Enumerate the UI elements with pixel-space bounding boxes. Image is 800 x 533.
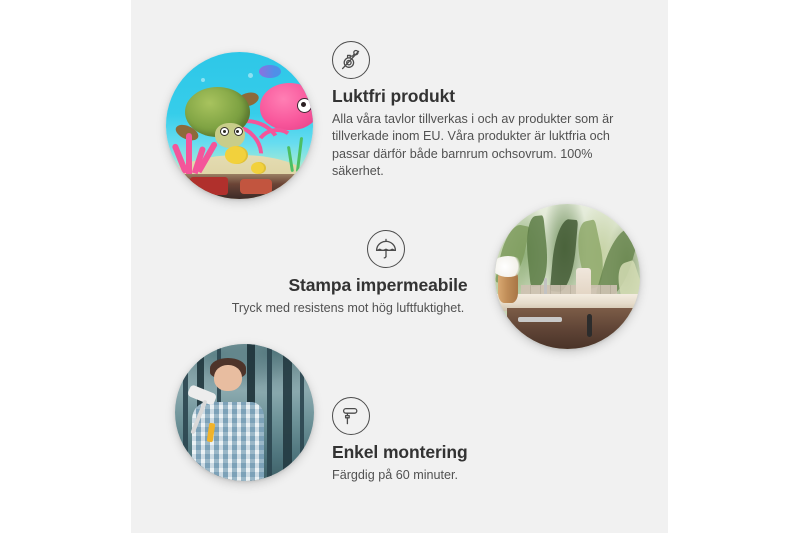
octopus-head — [260, 83, 313, 130]
feature-body: Alla våra tavlor tillverkas i och av pro… — [332, 111, 622, 181]
flowers — [495, 256, 524, 276]
infographic-page: Luktfri produkt Alla våra tavlor tillver… — [0, 0, 800, 533]
feature-title: Luktfri produkt — [332, 86, 622, 107]
no-odour-spray-bottle-icon — [332, 41, 370, 79]
underwater-artwork — [166, 52, 313, 199]
tree-trunk — [283, 344, 292, 481]
feature-body: Färgdig på 60 minuter. — [332, 467, 592, 484]
pink-coral — [175, 130, 219, 174]
feature-title: Stampa impermeabile — [213, 275, 483, 296]
octopus-eye — [297, 98, 312, 113]
tree-trunk — [183, 344, 188, 481]
feature-title: Enkel montering — [332, 442, 592, 463]
photo-underwater-scene — [166, 52, 313, 199]
painter-artwork — [175, 344, 314, 481]
wood-vanity — [507, 308, 640, 349]
tree-trunk — [267, 344, 272, 481]
tree-trunk — [300, 344, 304, 481]
yellow-fish-icon — [251, 162, 266, 174]
turtle-eye — [234, 127, 243, 136]
feature-easy-mount: Enkel montering Färgdig på 60 minuter. — [332, 397, 592, 484]
bubble-icon — [248, 73, 253, 78]
feature-body: Tryck med resistens mot hög luftfuktighe… — [213, 300, 483, 317]
photo-bathroom-scene — [495, 204, 640, 349]
content-panel: Luktfri produkt Alla våra tavlor tillver… — [131, 0, 668, 533]
bathroom-artwork — [495, 204, 640, 349]
yellow-fish-icon — [225, 146, 249, 164]
feature-odourless: Luktfri produkt Alla våra tavlor tillver… — [332, 41, 622, 181]
paint-roller-icon — [332, 397, 370, 435]
foreground-strip — [166, 174, 313, 199]
feature-waterproof: Stampa impermeabile Tryck med resistens … — [213, 230, 483, 317]
person-head — [214, 365, 242, 391]
umbrella-rain-icon — [367, 230, 405, 268]
photo-painter-scene — [175, 344, 314, 481]
